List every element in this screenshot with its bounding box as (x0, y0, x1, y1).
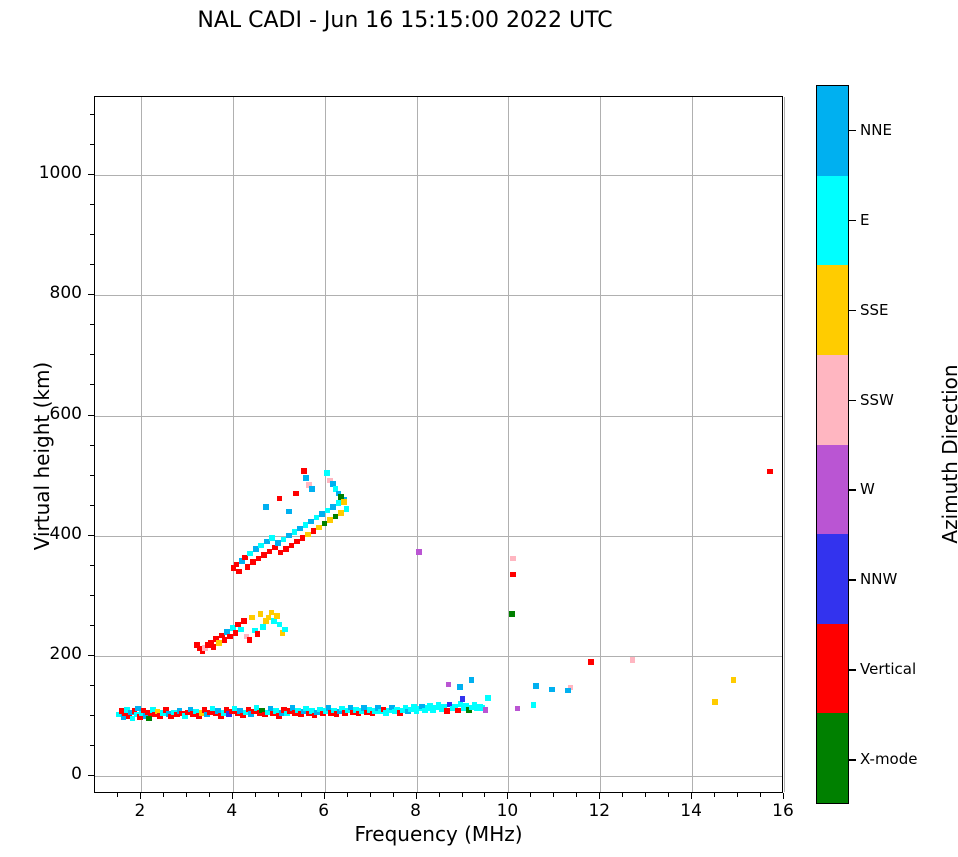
data-mark (767, 469, 773, 475)
x-axis-tick-label: 16 (753, 801, 813, 821)
data-mark (274, 613, 280, 619)
y-axis-tick (88, 655, 94, 656)
colorbar-tick (849, 579, 856, 581)
x-axis-tick-label: 10 (477, 801, 537, 821)
data-mark (485, 695, 491, 701)
y-axis-minor-tick (90, 264, 94, 265)
data-mark (303, 475, 309, 481)
data-mark (236, 569, 242, 575)
colorbar-label-nnw: NNW (860, 570, 897, 588)
x-axis-tick (507, 793, 508, 799)
y-axis-minor-tick (90, 354, 94, 355)
data-mark (324, 470, 330, 476)
data-mark (255, 631, 261, 637)
data-mark (509, 611, 515, 617)
x-axis-tick-label: 14 (661, 801, 721, 821)
x-axis-tick-label: 2 (110, 801, 170, 821)
x-axis-minor-tick (439, 793, 440, 797)
y-axis-tick (88, 535, 94, 536)
y-axis-minor-tick (90, 234, 94, 235)
data-mark (282, 627, 288, 633)
x-axis-tick (232, 793, 233, 799)
x-axis-minor-tick (645, 793, 646, 797)
data-mark (446, 682, 452, 688)
data-mark (515, 706, 521, 712)
colorbar-segment-nnw (817, 534, 848, 624)
data-mark (258, 611, 264, 617)
colorbar-segment-vertical (817, 624, 848, 714)
colorbar-tick (849, 669, 856, 671)
data-mark (565, 688, 571, 694)
colorbar-tick (849, 489, 856, 491)
data-mark (712, 699, 718, 705)
y-axis-minor-tick (90, 384, 94, 385)
colorbar-segment-nne (817, 86, 848, 176)
data-mark (245, 564, 251, 570)
data-mark (483, 707, 489, 713)
x-axis-minor-tick (163, 793, 164, 797)
y-axis-minor-tick (90, 204, 94, 205)
x-axis-tick (691, 793, 692, 799)
data-mark (309, 486, 315, 492)
colorbar-tick (849, 310, 856, 312)
data-mark (238, 627, 244, 633)
data-mark (260, 624, 266, 630)
data-mark (247, 637, 253, 643)
x-axis-minor-tick (622, 793, 623, 797)
data-mark (457, 684, 463, 690)
colorbar-label-x-mode: X-mode (860, 750, 917, 768)
y-axis-minor-tick (90, 625, 94, 626)
x-axis-minor-tick (186, 793, 187, 797)
x-axis-tick-label: 6 (294, 801, 354, 821)
ionogram-figure: NAL CADI - Jun 16 15:15:00 2022 UTC 2468… (0, 0, 958, 857)
colorbar-title: Azimuth Direction (938, 294, 958, 614)
x-axis-minor-tick (714, 793, 715, 797)
colorbar (816, 85, 849, 804)
data-mark (416, 549, 422, 555)
x-axis-tick (416, 793, 417, 799)
data-mark (263, 504, 269, 510)
y-axis-minor-tick (90, 114, 94, 115)
y-axis-minor-tick (90, 715, 94, 716)
colorbar-segment-w (817, 445, 848, 535)
data-mark (510, 556, 516, 562)
y-axis-minor-tick (90, 475, 94, 476)
colorbar-tick (849, 759, 856, 761)
y-axis-minor-tick (90, 505, 94, 506)
x-axis-minor-tick (462, 793, 463, 797)
colorbar-tick (849, 400, 856, 402)
x-axis-minor-tick (668, 793, 669, 797)
x-axis-minor-tick (530, 793, 531, 797)
x-axis-minor-tick (370, 793, 371, 797)
y-axis-tick-label: 800 (0, 283, 82, 303)
x-axis-tick-label: 8 (386, 801, 446, 821)
data-mark (241, 618, 247, 624)
x-axis-minor-tick (301, 793, 302, 797)
x-axis-tick (783, 793, 784, 799)
y-axis-minor-tick (90, 565, 94, 566)
colorbar-label-e: E (860, 211, 869, 229)
colorbar-segment-e (817, 176, 848, 266)
x-axis-label: Frequency (MHz) (94, 822, 783, 846)
data-mark (344, 506, 350, 512)
x-axis-minor-tick (278, 793, 279, 797)
data-mark (277, 496, 283, 502)
x-axis-tick-label: 12 (569, 801, 629, 821)
y-axis-minor-tick (90, 324, 94, 325)
data-mark (469, 677, 475, 683)
y-axis-tick-label: 200 (0, 644, 82, 664)
y-axis-label: Virtual height (km) (30, 306, 54, 606)
data-layer (95, 97, 782, 792)
page-title: NAL CADI - Jun 16 15:15:00 2022 UTC (0, 8, 810, 33)
y-axis-tick (88, 294, 94, 295)
data-mark (247, 551, 253, 557)
x-axis-tick (140, 793, 141, 799)
colorbar-label-nne: NNE (860, 121, 892, 139)
data-mark (533, 683, 539, 689)
x-axis-minor-tick (553, 793, 554, 797)
colorbar-label-ssw: SSW (860, 391, 894, 409)
data-mark (588, 659, 594, 665)
data-mark (286, 509, 292, 515)
y-axis-tick-label: 0 (0, 764, 82, 784)
y-axis-minor-tick (90, 745, 94, 746)
x-axis-minor-tick (209, 793, 210, 797)
data-mark (249, 615, 255, 621)
x-axis-minor-tick (484, 793, 485, 797)
x-axis-minor-tick (347, 793, 348, 797)
colorbar-segment-sse (817, 265, 848, 355)
y-axis-minor-tick (90, 685, 94, 686)
data-mark (460, 696, 466, 702)
x-axis-minor-tick (393, 793, 394, 797)
x-axis-tick (324, 793, 325, 799)
x-axis-minor-tick (117, 793, 118, 797)
x-axis-minor-tick (760, 793, 761, 797)
colorbar-segment-x-mode (817, 713, 848, 803)
y-axis-minor-tick (90, 144, 94, 145)
y-axis-tick (88, 415, 94, 416)
plot-area (94, 96, 783, 793)
y-axis-tick (88, 174, 94, 175)
data-mark (630, 657, 636, 663)
y-axis-tick-label: 1000 (0, 163, 82, 183)
x-axis-minor-tick (255, 793, 256, 797)
colorbar-tick (849, 220, 856, 222)
colorbar-label-sse: SSE (860, 301, 889, 319)
x-axis-tick-label: 4 (202, 801, 262, 821)
data-mark (531, 702, 537, 708)
y-axis-tick (88, 775, 94, 776)
colorbar-tick (849, 130, 856, 132)
colorbar-label-w: W (860, 480, 875, 498)
data-mark (301, 468, 307, 474)
data-mark (549, 687, 555, 693)
x-axis-tick (599, 793, 600, 799)
y-axis-minor-tick (90, 595, 94, 596)
data-mark (293, 491, 299, 497)
gridline-vertical (784, 97, 785, 792)
colorbar-segment-ssw (817, 355, 848, 445)
colorbar-label-vertical: Vertical (860, 660, 916, 678)
y-axis-minor-tick (90, 445, 94, 446)
data-mark (731, 677, 737, 683)
data-mark (341, 499, 347, 505)
x-axis-minor-tick (737, 793, 738, 797)
x-axis-minor-tick (576, 793, 577, 797)
data-mark (510, 572, 516, 578)
